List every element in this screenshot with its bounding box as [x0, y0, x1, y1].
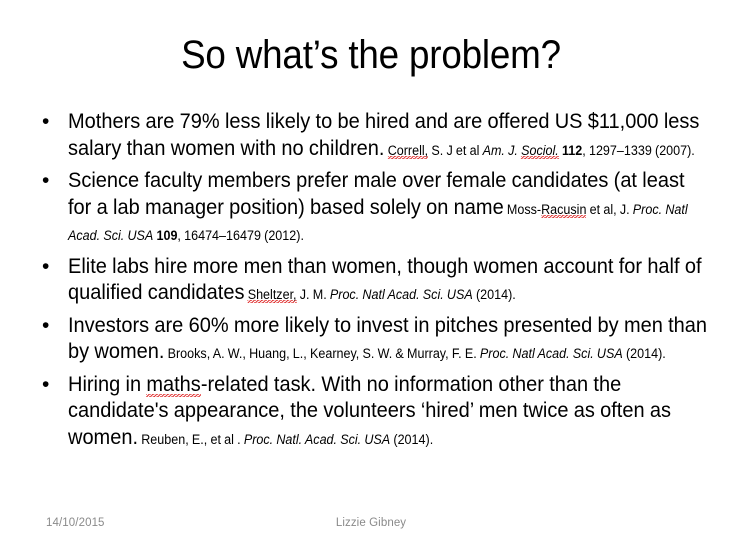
bullet-citation: Correll, S. J et al Am. J. Sociol. 112, … [384, 143, 694, 159]
bullet-marker: • [42, 253, 49, 280]
bullet-citation: Reuben, E., et al . Proc. Natl. Acad. Sc… [138, 432, 433, 447]
citation-pages: (2014). [390, 432, 433, 447]
bullet-body: Elite labs hire more men than women, tho… [68, 253, 711, 306]
citation-pages: , 1297–1339 (2007). [582, 143, 695, 158]
bullet-list: • Mothers are 79% less likely to be hire… [36, 108, 708, 450]
list-item[interactable]: • Hiring in maths-related task. With no … [36, 371, 708, 451]
list-item[interactable]: • Mothers are 79% less likely to be hire… [36, 108, 708, 161]
bullet-body: Investors are 60% more likely to invest … [68, 312, 711, 365]
list-item[interactable]: • Elite labs hire more men than women, t… [36, 253, 708, 306]
bullet-statement-flagged: maths [146, 372, 200, 397]
citation-pages: (2014). [623, 346, 666, 361]
citation-author-post: et al, J. [586, 202, 632, 217]
citation-journal-flagged: Sociol. [521, 143, 559, 159]
bullet-statement-pre: Hiring in [68, 372, 146, 396]
citation-journal: Proc. Natl. Acad. Sci. USA [244, 432, 390, 447]
citation-pages: , 16474–16479 (2012). [177, 228, 303, 243]
citation-authors: Brooks, A. W., Huang, L., Kearney, S. W.… [164, 346, 479, 361]
bullet-marker: • [42, 167, 49, 194]
list-item[interactable]: • Investors are 60% more likely to inves… [36, 312, 708, 365]
bullet-marker: • [42, 371, 49, 398]
bullet-citation: Sheltzer, J. M. Proc. Natl Acad. Sci. US… [244, 287, 515, 303]
bullet-marker: • [42, 312, 49, 339]
citation-author-pre: Moss- [507, 202, 541, 217]
citation-author-rest: S. J et al [428, 143, 482, 158]
slide-canvas: So what’s the problem? • Mothers are 79%… [0, 0, 742, 555]
citation-pages: (2014). [473, 287, 516, 302]
citation-author-flagged: Correll, [388, 143, 428, 159]
citation-author-flagged: Sheltzer, [248, 287, 297, 303]
citation-journal: Proc. Natl Acad. Sci. USA [330, 287, 473, 302]
page-title: So what’s the problem? [30, 32, 713, 78]
bullet-marker: • [42, 108, 49, 135]
footer-author: Lizzie Gibney [0, 516, 742, 530]
list-item[interactable]: • Science faculty members prefer male ov… [36, 167, 708, 247]
citation-journal: Proc. Natl Acad. Sci. USA [480, 346, 623, 361]
citation-journal: Am. J. Sociol. [483, 143, 559, 159]
citation-authors: Reuben, E., et al . [138, 432, 244, 447]
bullet-citation: Brooks, A. W., Huang, L., Kearney, S. W.… [164, 346, 665, 361]
bullet-body: Mothers are 79% less likely to be hired … [68, 108, 711, 161]
bullet-body: Hiring in maths-related task. With no in… [68, 371, 711, 451]
bullet-body: Science faculty members prefer male over… [68, 167, 711, 247]
citation-volume: 109 [156, 228, 177, 243]
citation-author-post: J. M. [297, 287, 330, 302]
citation-author-flagged: Racusin [541, 202, 586, 218]
citation-volume: 112 [562, 143, 582, 158]
